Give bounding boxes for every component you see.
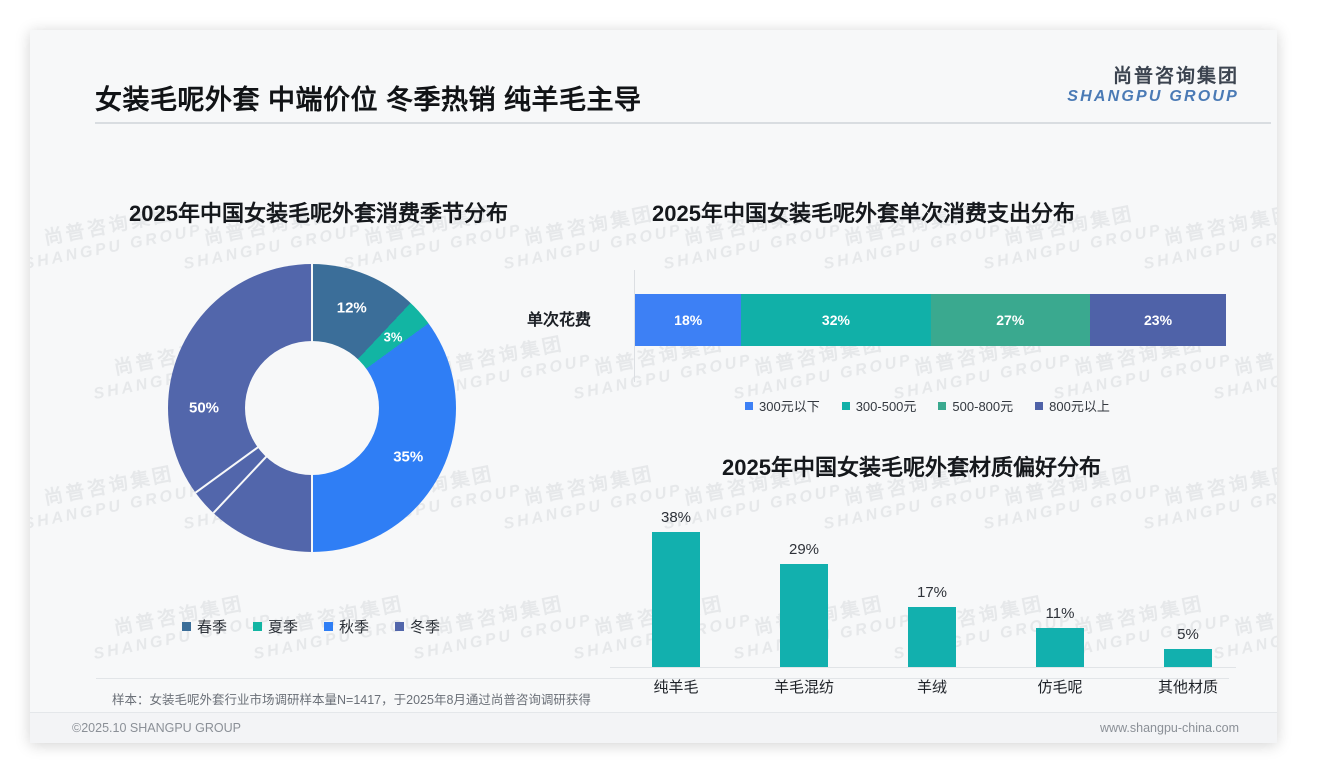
column-chart-material: 38%29%17%11%5% [610, 500, 1250, 668]
legend-item-spend-3[interactable]: 800元以上 [1035, 396, 1110, 415]
legend-item-season-1[interactable]: 夏季 [253, 616, 298, 637]
sample-footnote: 样本：女装毛呢外套行业市场调研样本量N=1417，于2025年8月通过尚普咨询调… [112, 689, 591, 708]
legend-swatch-icon [745, 402, 753, 410]
column-category-label: 羊毛混纺 [756, 676, 852, 697]
legend-item-spend-2[interactable]: 500-800元 [938, 396, 1013, 415]
column-value-label: 5% [1177, 626, 1199, 643]
column-value-label: 38% [661, 509, 691, 526]
legend-item-season-3[interactable]: 冬季 [395, 616, 440, 637]
donut-slice-value: 35% [393, 449, 423, 466]
slide-footer: ©2025.10 SHANGPU GROUP www.shangpu-china… [30, 712, 1277, 743]
header-divider [95, 122, 1271, 124]
legend-swatch-icon [842, 402, 850, 410]
chart-panel-material: 2025年中国女装毛呢外套材质偏好分布 38%29%17%11%5% 纯羊毛羊毛… [610, 428, 1250, 708]
legend-label: 300元以下 [759, 396, 820, 415]
legend-item-spend-1[interactable]: 300-500元 [842, 396, 917, 415]
column-category-label: 仿毛呢 [1012, 676, 1108, 697]
column-group-0[interactable]: 38% [628, 499, 724, 667]
column-baseline [610, 667, 1236, 668]
legend-label: 冬季 [410, 616, 440, 637]
legend-swatch-icon [1035, 402, 1043, 410]
chart-title-season: 2025年中国女装毛呢外套消费季节分布 [129, 196, 508, 228]
column-value-label: 11% [1046, 605, 1075, 622]
legend-item-season-2[interactable]: 秋季 [324, 616, 369, 637]
legend-swatch-icon [938, 402, 946, 410]
legend-label: 夏季 [268, 616, 298, 637]
stacked-bar-segment-value: 18% [674, 312, 702, 328]
column-group-3[interactable]: 11% [1012, 499, 1108, 667]
legend-label: 800元以上 [1049, 396, 1110, 415]
chart-title-spend: 2025年中国女装毛呢外套单次消费支出分布 [652, 196, 1075, 228]
chart-title-material: 2025年中国女装毛呢外套材质偏好分布 [722, 450, 1101, 482]
column-group-2[interactable]: 17% [884, 499, 980, 667]
stacked-bar-spend: 18%32%27%23% [635, 294, 1226, 346]
column-group-1[interactable]: 29% [756, 499, 852, 667]
column-bar[interactable] [1036, 628, 1084, 667]
chart-panel-spend: 2025年中国女装毛呢外套单次消费支出分布 单次花费 18%32%27%23% … [610, 168, 1250, 428]
logo-english-text: SHANGPU GROUP [1067, 88, 1239, 107]
stacked-bar-segment-value: 32% [822, 312, 850, 328]
column-bar[interactable] [908, 607, 956, 667]
legend-swatch-icon [182, 622, 191, 631]
legend-item-season-0[interactable]: 春季 [182, 616, 227, 637]
stacked-bar-segment-value: 23% [1144, 312, 1172, 328]
page-title: 女装毛呢外套 中端价位 冬季热销 纯羊毛主导 [95, 78, 642, 117]
column-bar[interactable] [1164, 649, 1212, 667]
stacked-bar-segment-2[interactable]: 27% [931, 294, 1091, 346]
donut-chart-season: 12%3%35%50% [168, 264, 456, 552]
column-value-label: 17% [917, 584, 947, 601]
legend-swatch-icon [324, 622, 333, 631]
footnote-divider [96, 678, 1229, 679]
chart-panel-season: 2025年中国女装毛呢外套消费季节分布 12%3%35%50% 春季夏季秋季冬季 [96, 168, 616, 668]
legend-label: 500-800元 [952, 396, 1013, 415]
donut-hole [245, 341, 379, 475]
stacked-bar-segment-value: 27% [996, 312, 1024, 328]
copyright-text: ©2025.10 SHANGPU GROUP [72, 721, 241, 735]
column-group-4[interactable]: 5% [1140, 499, 1236, 667]
column-bar[interactable] [652, 532, 700, 667]
legend-label: 秋季 [339, 616, 369, 637]
column-value-label: 29% [789, 541, 819, 558]
legend-season: 春季夏季秋季冬季 [182, 616, 440, 637]
column-bar[interactable] [780, 564, 828, 667]
legend-swatch-icon [395, 622, 404, 631]
spend-row-label: 单次花费 [527, 306, 591, 330]
stacked-bar-segment-0[interactable]: 18% [635, 294, 741, 346]
column-category-label: 羊绒 [884, 676, 980, 697]
donut-slice-value: 12% [337, 299, 367, 316]
legend-spend: 300元以下300-500元500-800元800元以上 [745, 396, 1110, 415]
donut-slice-value: 3% [384, 329, 403, 344]
infographic-slide: 尚普咨询集团SHANGPU GROUP尚普咨询集团SHANGPU GROUP尚普… [30, 30, 1277, 743]
brand-logo: 尚普咨询集团 SHANGPU GROUP [1067, 66, 1239, 107]
column-category-label: 纯羊毛 [628, 676, 724, 697]
donut-slice-value: 50% [189, 400, 219, 417]
legend-item-spend-0[interactable]: 300元以下 [745, 396, 820, 415]
column-category-labels: 纯羊毛羊毛混纺羊绒仿毛呢其他材质 [610, 676, 1236, 700]
legend-label: 300-500元 [856, 396, 917, 415]
column-category-label: 其他材质 [1140, 676, 1236, 697]
legend-label: 春季 [197, 616, 227, 637]
logo-chinese-text: 尚普咨询集团 [1067, 66, 1239, 88]
stacked-bar-segment-3[interactable]: 23% [1090, 294, 1226, 346]
website-link[interactable]: www.shangpu-china.com [1100, 721, 1239, 735]
slide-header: 女装毛呢外套 中端价位 冬季热销 纯羊毛主导 尚普咨询集团 SHANGPU GR… [30, 30, 1277, 122]
legend-swatch-icon [253, 622, 262, 631]
stacked-bar-segment-1[interactable]: 32% [741, 294, 930, 346]
